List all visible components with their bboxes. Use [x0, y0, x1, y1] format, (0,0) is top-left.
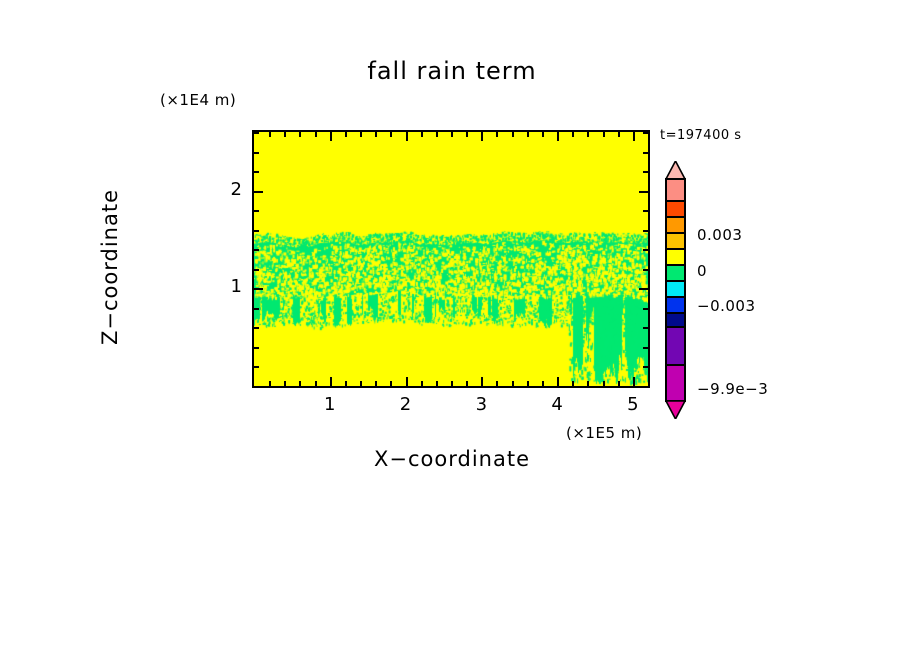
x-tick-minor	[587, 381, 589, 386]
x-tick-minor-top	[345, 132, 347, 137]
colorbar-top-arrow	[665, 161, 686, 179]
x-tick-minor-top	[436, 132, 438, 137]
colorbar-segment	[665, 296, 686, 312]
x-tick-major	[330, 377, 332, 386]
x-tick-minor-top	[466, 132, 468, 137]
x-tick-minor-top	[421, 132, 423, 137]
y-axis-title: Z−coordinate	[98, 147, 122, 387]
y-tick-minor-right	[643, 152, 648, 154]
colorbar	[665, 178, 686, 402]
y-tick-minor	[254, 327, 259, 329]
x-tick-minor	[269, 381, 271, 386]
x-tick-minor-top	[527, 132, 529, 137]
colorbar-divider	[665, 200, 686, 202]
x-tick-minor	[648, 381, 650, 386]
x-tick-label: 4	[537, 394, 577, 415]
colorbar-segment	[665, 178, 686, 200]
x-tick-label: 1	[310, 394, 350, 415]
x-tick-major-top	[330, 132, 332, 141]
x-tick-minor-top	[496, 132, 498, 137]
x-tick-minor	[345, 381, 347, 386]
y-tick-minor-right	[643, 132, 648, 134]
x-tick-minor	[466, 381, 468, 386]
y-tick-minor	[254, 230, 259, 232]
y-tick-major	[254, 288, 263, 290]
colorbar-segment	[665, 216, 686, 232]
y-tick-minor-right	[643, 171, 648, 173]
x-tick-major	[557, 377, 559, 386]
y-tick-minor-right	[643, 347, 648, 349]
y-tick-label: 2	[202, 179, 242, 200]
colorbar-divider	[665, 364, 686, 366]
x-tick-minor-top	[284, 132, 286, 137]
x-tick-minor	[496, 381, 498, 386]
x-tick-minor-top	[512, 132, 514, 137]
x-tick-minor-top	[451, 132, 453, 137]
x-tick-minor	[527, 381, 529, 386]
y-tick-minor	[254, 249, 259, 251]
y-tick-label: 1	[202, 276, 242, 297]
x-tick-label: 5	[613, 394, 653, 415]
y-tick-minor-right	[643, 210, 648, 212]
x-tick-minor-top	[269, 132, 271, 137]
colorbar-divider	[665, 264, 686, 266]
x-tick-label: 3	[461, 394, 501, 415]
x-tick-minor	[572, 381, 574, 386]
x-axis-title: X−coordinate	[0, 447, 904, 471]
colorbar-divider	[665, 280, 686, 282]
x-tick-minor-top	[587, 132, 589, 137]
x-tick-minor	[542, 381, 544, 386]
x-tick-minor	[284, 381, 286, 386]
contour-field	[254, 132, 648, 386]
x-tick-major-top	[406, 132, 408, 141]
y-tick-major-right	[639, 288, 648, 290]
y-tick-minor	[254, 308, 259, 310]
x-tick-minor	[451, 381, 453, 386]
x-tick-major	[633, 377, 635, 386]
y-tick-minor	[254, 171, 259, 173]
x-tick-minor-top	[315, 132, 317, 137]
colorbar-divider	[665, 312, 686, 314]
y-tick-minor-right	[643, 366, 648, 368]
colorbar-divider	[665, 296, 686, 298]
colorbar-tick-label: −0.003	[697, 297, 756, 315]
y-tick-minor-right	[643, 269, 648, 271]
y-tick-minor-right	[643, 249, 648, 251]
colorbar-tick-label: 0.003	[697, 226, 742, 244]
y-tick-major	[254, 191, 263, 193]
y-tick-minor	[254, 366, 259, 368]
colorbar-segment	[665, 364, 686, 402]
x-tick-minor-top	[618, 132, 620, 137]
colorbar-divider	[665, 178, 686, 180]
colorbar-segment	[665, 326, 686, 364]
y-tick-minor-right	[643, 327, 648, 329]
y-tick-minor	[254, 132, 259, 134]
y-tick-minor-right	[643, 230, 648, 232]
x-tick-minor-top	[648, 132, 650, 137]
page-title: fall rain term	[0, 57, 904, 85]
y-tick-minor	[254, 347, 259, 349]
colorbar-segment	[665, 248, 686, 264]
y-tick-minor	[254, 152, 259, 154]
x-tick-major-top	[557, 132, 559, 141]
colorbar-tick-label: −9.9e−3	[697, 380, 768, 398]
y-tick-minor-right	[643, 308, 648, 310]
x-tick-minor	[299, 381, 301, 386]
colorbar-segment	[665, 232, 686, 248]
colorbar-tick-label: 0	[697, 262, 707, 280]
x-tick-major-top	[633, 132, 635, 141]
x-tick-minor-top	[375, 132, 377, 137]
x-tick-minor	[618, 381, 620, 386]
y-tick-minor	[254, 269, 259, 271]
x-tick-minor-top	[542, 132, 544, 137]
x-axis-unit-label: (×1E5 m)	[566, 424, 642, 442]
colorbar-segment	[665, 264, 686, 280]
colorbar-segment	[665, 280, 686, 296]
colorbar-divider	[665, 232, 686, 234]
x-tick-minor	[512, 381, 514, 386]
colorbar-divider	[665, 248, 686, 250]
x-tick-major-top	[481, 132, 483, 141]
y-tick-major-right	[639, 191, 648, 193]
x-tick-minor-top	[299, 132, 301, 137]
x-tick-major	[406, 377, 408, 386]
x-tick-major	[481, 377, 483, 386]
x-tick-minor	[375, 381, 377, 386]
colorbar-divider	[665, 216, 686, 218]
colorbar-segment	[665, 200, 686, 216]
x-tick-minor	[360, 381, 362, 386]
x-tick-minor	[315, 381, 317, 386]
y-tick-minor	[254, 210, 259, 212]
x-tick-minor	[436, 381, 438, 386]
x-tick-label: 2	[386, 394, 426, 415]
x-tick-minor	[421, 381, 423, 386]
time-annotation: t=197400 s	[660, 128, 742, 143]
x-tick-minor-top	[603, 132, 605, 137]
x-tick-minor-top	[390, 132, 392, 137]
x-tick-minor-top	[572, 132, 574, 137]
colorbar-divider	[665, 326, 686, 328]
colorbar-bottom-arrow	[665, 401, 686, 419]
x-tick-minor-top	[360, 132, 362, 137]
plot-area	[252, 130, 650, 388]
colorbar-segment	[665, 312, 686, 326]
x-tick-minor	[390, 381, 392, 386]
y-axis-unit-label: (×1E4 m)	[160, 91, 236, 109]
x-tick-minor	[603, 381, 605, 386]
